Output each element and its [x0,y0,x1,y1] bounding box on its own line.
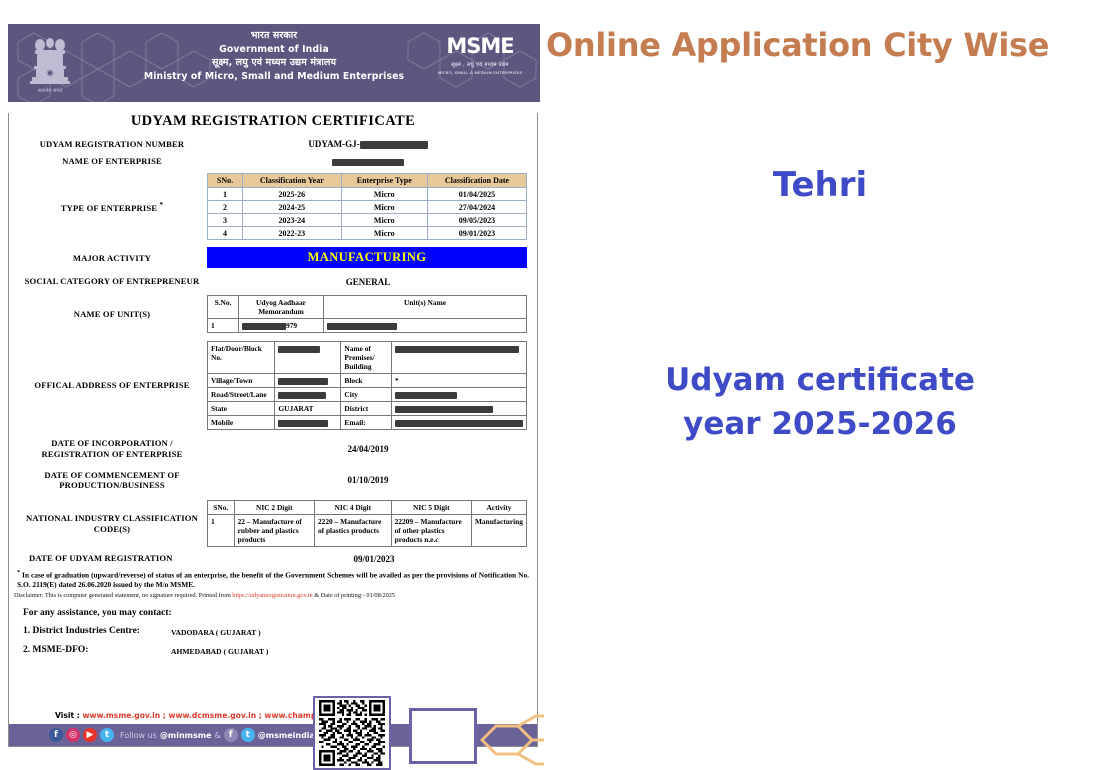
cell-key-village: Village/Town [208,374,275,388]
blank-purple-box [409,708,477,764]
cell-sno: 1 [208,515,235,547]
cell-nic2: 22 – Manufacture of rubber and plastics … [234,515,314,547]
cell-nic5: 22209 – Manufacture of other plastics pr… [391,515,471,547]
cell-year: 2025-26 [243,188,342,201]
cell-nic4: 2220 – Manufacture of plastics products [314,515,391,547]
cell-key-city: City [341,388,392,402]
table-header-row: SNo. Classification Year Enterprise Type… [208,174,527,188]
cell-key-premises: Name of Premises/ Building [341,342,392,374]
field-row-major-activity: MAJOR ACTIVITY MANUFACTURING [9,247,537,268]
cell-type: Micro [341,214,427,227]
table-row: Mobile Email: [208,416,527,430]
redaction-bar [395,392,457,399]
cell-value-city [392,388,527,402]
redaction-bar [278,346,320,353]
handle-secondary[interactable]: @msmeindia [258,731,315,740]
cell-unit-name [324,319,527,333]
table-row: 4 2022-23 Micro 09/01/2023 [208,227,527,240]
date-udyam-value: 09/01/2023 [219,554,529,564]
redaction-bar [332,159,404,166]
redaction-bar [395,406,493,413]
col-unit-name: Unit(s) Name [324,296,527,319]
hexagon-decoration-icon [474,710,544,770]
redaction-bar [395,346,519,353]
msme-logo-hindi: सूक्ष्म , लघु एवं मध्यम उद्यम [434,60,526,68]
table-row: Village/Town Block * [208,374,527,388]
table-row: 1 979 [208,319,527,333]
col-sno: S.No. [208,296,239,319]
cell-value-district [392,402,527,416]
field-row-enterprise-name: NAME OF ENTERPRISE [9,156,537,167]
cell-type: Micro [341,188,427,201]
youtube-icon[interactable]: ▶ [83,728,97,742]
udyam-certificate-image: सत्यमेव जयते भारत सरकार Government of In… [8,24,540,738]
contact-value-dic: VADODARA ( GUJARAT ) [171,626,261,637]
cell-key-district: District [341,402,392,416]
redaction-bar [395,420,523,427]
table-header-row: S.No. Udyog Aadhaar Memorandum Unit(s) N… [208,296,527,319]
qr-code-icon [317,700,387,766]
handle-primary[interactable]: @minmsme [160,731,212,740]
table-row: 1 22 – Manufacture of rubber and plastic… [208,515,527,547]
contact-key-dic: 1. District Industries Centre: [23,626,171,637]
nic-table: SNo. NIC 2 Digit NIC 4 Digit NIC 5 Digit… [207,500,527,547]
col-sno: SNo. [208,501,235,515]
date-udyam-label: DATE OF UDYAM REGISTRATION [17,553,219,564]
field-row-social-category: SOCIAL CATEGORY OF ENTREPRENEUR GENERAL [9,276,537,287]
twitter-icon-secondary[interactable]: f [224,728,238,742]
date-incorporation-value: 24/04/2019 [207,444,529,454]
date-commencement-label: DATE OF COMMENCEMENT OF PRODUCTION/BUSIN… [17,470,207,491]
col-sno: SNo. [208,174,243,188]
cell-key-road: Road/Street/Lane [208,388,275,402]
cell-key-email: Email: [341,416,392,430]
col-nic4: NIC 4 Digit [314,501,391,515]
field-row-registration-number: UDYAM REGISTRATION NUMBER UDYAM-GJ- [9,139,537,150]
enterprise-name-value [207,156,529,166]
field-row-nic: NATIONAL INDUSTRY CLASSIFICATION CODE(S)… [9,500,537,547]
col-nic5: NIC 5 Digit [391,501,471,515]
field-row-name-of-units: NAME OF UNIT(S) S.No. Udyog Aadhaar Memo… [9,295,537,333]
units-table: S.No. Udyog Aadhaar Memorandum Unit(s) N… [207,295,527,333]
cell-value-block: * [392,374,527,388]
msme-logo-mark: MSME [434,36,526,57]
follow-label: Follow us [120,731,157,740]
footnote-body: In case of graduation (upward/reverse) o… [17,570,529,589]
cell-date: 27/04/2024 [427,201,526,214]
contact-row-dfo: 2. MSME-DFO: AHMEDABAD ( GUJARAT ) [9,645,537,656]
col-enterprise-type: Enterprise Type [341,174,427,188]
registration-number-label: UDYAM REGISTRATION NUMBER [17,139,207,150]
date-incorporation-label: DATE OF INCORPORATION / REGISTRATION OF … [17,438,207,459]
cell-activity: Manufacturing [471,515,526,547]
table-row: 2 2024-25 Micro 27/04/2024 [208,201,527,214]
official-address-label: OFFICAL ADDRESS OF ENTERPRISE [17,380,207,391]
table-row: Flat/Door/Block No. Name of Premises/ Bu… [208,342,527,374]
cell-udyog-aadhaar: 979 [239,319,324,333]
subline-2: year 2025-2026 [540,402,1100,446]
cell-udyog-aadhaar-suffix: 979 [286,321,297,330]
major-activity-label: MAJOR ACTIVITY [17,253,207,264]
redaction-bar [360,141,428,149]
table-row: Road/Street/Lane City [208,388,527,402]
col-nic2: NIC 2 Digit [234,501,314,515]
field-row-date-incorporation: DATE OF INCORPORATION / REGISTRATION OF … [9,438,537,459]
cell-key-flat: Flat/Door/Block No. [208,342,275,374]
certificate-banner: सत्यमेव जयते भारत सरकार Government of In… [8,24,540,102]
redaction-bar [278,378,328,385]
table-row: 1 2025-26 Micro 01/04/2025 [208,188,527,201]
contact-row-dic: 1. District Industries Centre: VADODARA … [9,626,537,637]
table-row: State GUJARAT District [208,402,527,416]
col-udyog-aadhaar: Udyog Aadhaar Memorandum [239,296,324,319]
qr-code [313,696,391,770]
facebook-icon[interactable]: f [49,728,63,742]
cell-sno: 3 [208,214,243,227]
registration-number-value: UDYAM-GJ- [207,139,529,149]
instagram-icon[interactable]: ◎ [66,728,80,742]
contact-key-dfo: 2. MSME-DFO: [23,645,171,656]
name-of-units-label: NAME OF UNIT(S) [17,309,207,320]
msme-logo: MSME सूक्ष्म , लघु एवं मध्यम उद्यम MICRO… [434,36,526,75]
disclaimer-line: Disclaimer: This is computer generated s… [9,592,537,599]
certificate-title: UDYAM REGISTRATION CERTIFICATE [9,113,537,130]
col-activity: Activity [471,501,526,515]
cell-value-mobile [275,416,341,430]
cell-date: 09/01/2023 [427,227,526,240]
enterprise-name-label: NAME OF ENTERPRISE [17,156,207,167]
cell-date: 09/05/2023 [427,214,526,227]
page-headline: Online Application City Wise [546,26,1116,64]
table-header-row: SNo. NIC 2 Digit NIC 4 Digit NIC 5 Digit… [208,501,527,515]
cell-value-village [275,374,341,388]
right-text-panel: Online Application City Wise Tehri Udyam… [540,0,1116,753]
field-row-date-commencement: DATE OF COMMENCEMENT OF PRODUCTION/BUSIN… [9,470,537,491]
nic-label: NATIONAL INDUSTRY CLASSIFICATION CODE(S) [17,513,207,534]
cell-value-state: GUJARAT [275,402,341,416]
disclaimer-suffix: & Date of printing:- 01/08/2025 [313,592,395,599]
footnote-star: * [160,201,164,209]
msme-logo-english: MICRO, SMALL & MEDIUM ENTERPRISES [434,70,526,75]
redaction-bar [242,323,286,330]
cell-value-flat [275,342,341,374]
subline-1: Udyam certificate [540,358,1100,402]
redaction-bar [278,392,326,399]
social-category-label: SOCIAL CATEGORY OF ENTREPRENEUR [17,276,207,287]
address-table: Flat/Door/Block No. Name of Premises/ Bu… [207,341,527,430]
ampersand: & [215,731,221,740]
footnote-text: * In case of graduation (upward/reverse)… [9,569,537,590]
major-activity-value: MANUFACTURING [207,247,527,268]
redaction-bar [327,323,397,330]
disclaimer-link[interactable]: https://udyamregistration.gov.in [232,592,312,599]
social-category-value: GENERAL [207,277,529,287]
visit-prefix: Visit : [55,711,82,720]
cell-sno: 1 [208,188,243,201]
contact-value-dfo: AHMEDABAD ( GUJARAT ) [171,645,268,656]
cell-type: Micro [341,201,427,214]
enterprise-type-table: SNo. Classification Year Enterprise Type… [207,173,527,240]
cell-year: 2024-25 [243,201,342,214]
assistance-heading: For any assistance, you may contact: [9,608,537,618]
redaction-bar [278,420,328,427]
twitter-icon[interactable]: t [100,728,114,742]
cell-sno: 4 [208,227,243,240]
registration-number-prefix: UDYAM-GJ- [308,139,359,149]
type-of-enterprise-label: TYPE OF ENTERPRISE * [17,201,207,214]
field-row-type-of-enterprise: TYPE OF ENTERPRISE * SNo. Classification… [9,173,537,240]
col-classification-date: Classification Date [427,174,526,188]
cell-sno: 1 [208,319,239,333]
city-name: Tehri [540,165,1100,205]
cell-value-road [275,388,341,402]
table-row: 3 2023-24 Micro 09/05/2023 [208,214,527,227]
certificate-year-caption: Udyam certificate year 2025-2026 [540,358,1100,446]
cell-year: 2023-24 [243,214,342,227]
cell-date: 01/04/2025 [427,188,526,201]
field-row-official-address: OFFICAL ADDRESS OF ENTERPRISE Flat/Door/… [9,341,537,430]
cell-value-email [392,416,527,430]
disclaimer-prefix: Disclaimer: This is computer generated s… [14,592,232,599]
field-row-date-udyam: DATE OF UDYAM REGISTRATION 09/01/2023 [9,553,537,564]
date-commencement-value: 01/10/2019 [207,475,529,485]
cell-key-mobile: Mobile [208,416,275,430]
cell-value-premises [392,342,527,374]
cell-year: 2022-23 [243,227,342,240]
cell-key-state: State [208,402,275,416]
cell-type: Micro [341,227,427,240]
col-classification-year: Classification Year [243,174,342,188]
twitter-icon-alt[interactable]: t [241,728,255,742]
certificate-body: UDYAM REGISTRATION CERTIFICATE UDYAM REG… [8,113,538,747]
cell-sno: 2 [208,201,243,214]
svg-text:सत्यमेव जयते: सत्यमेव जयते [38,87,63,94]
cell-key-block: Block [341,374,392,388]
